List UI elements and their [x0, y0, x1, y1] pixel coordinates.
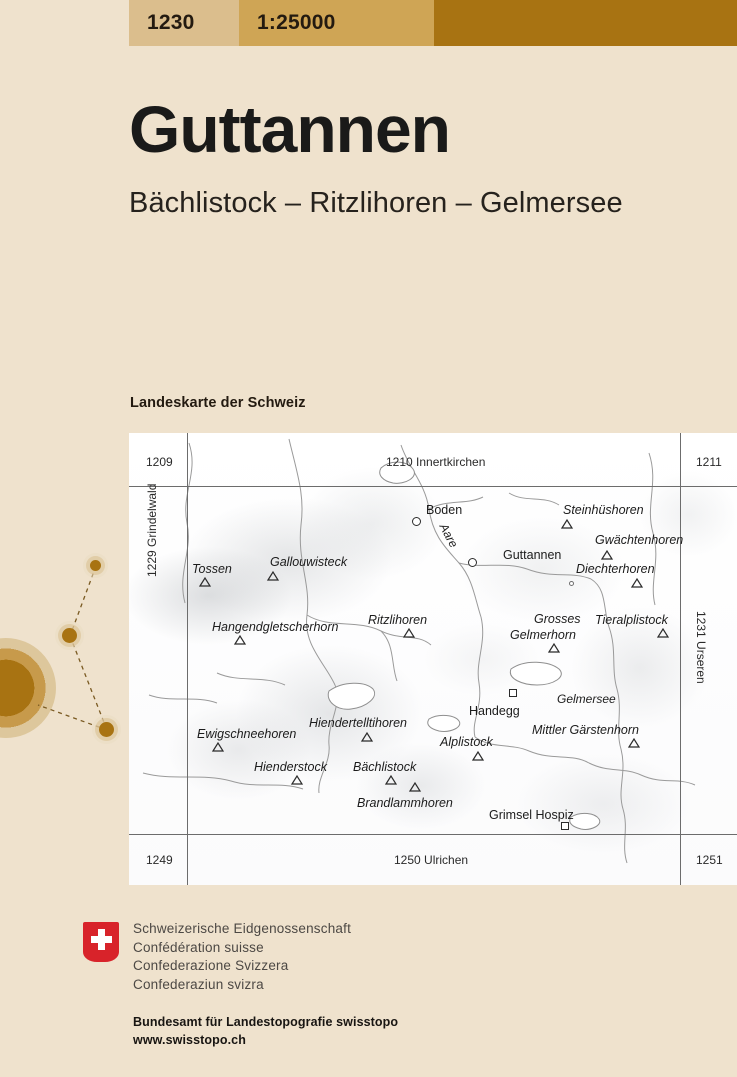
place-symbol-handegg: [509, 689, 517, 697]
scale-block: 1:25000: [239, 0, 434, 46]
sheet-number-block: 1230: [129, 0, 239, 46]
page-title: Guttannen: [129, 96, 623, 162]
office-website[interactable]: www.swisstopo.ch: [133, 1031, 398, 1049]
header-bar: 1230 1:25000: [0, 0, 737, 46]
place-symbol-grimsel-hospiz: [561, 822, 569, 830]
confederation-name-rm: Confederaziun svizra: [133, 976, 351, 995]
confederation-name-fr: Confédération suisse: [133, 939, 351, 958]
decorative-constellation: [0, 540, 130, 765]
header-accent-bar: [434, 0, 737, 46]
place-symbol-guttannen: [468, 558, 477, 567]
confederation-name-de: Schweizerische Eidgenossenschaft: [133, 920, 351, 939]
sheet-number: 1230: [129, 11, 195, 35]
constellation-dot-2: [62, 628, 77, 643]
header-left-spacer: [0, 0, 129, 46]
water-label-gelmersee: Gelmersee: [557, 692, 616, 706]
place-label-grimsel-hospiz: Grimsel Hospiz: [489, 808, 574, 822]
page-subtitle: Bächlistock – Ritzlihoren – Gelmersee: [129, 162, 623, 220]
map-cover-page: { "header": { "sheet_number": "1230", "s…: [0, 0, 737, 1077]
swiss-cross-icon: [83, 922, 119, 962]
peak-triangle-icons: [129, 433, 737, 885]
series-label: Landeskarte der Schweiz: [130, 395, 306, 411]
place-label-guttannen: Guttannen: [503, 548, 561, 562]
index-map-panel[interactable]: 1209 1210 Innertkirchen 1211 1229 Grinde…: [129, 433, 737, 885]
office-info: Bundesamt für Landestopografie swisstopo…: [133, 1013, 398, 1049]
constellation-dot-1: [90, 560, 101, 571]
confederation-names: Schweizerische Eidgenossenschaft Confédé…: [133, 920, 351, 994]
place-label-boden: Boden: [426, 503, 462, 517]
title-block: Guttannen Bächlistock – Ritzlihoren – Ge…: [129, 96, 623, 220]
confederation-name-it: Confederazione Svizzera: [133, 957, 351, 976]
office-name: Bundesamt für Landestopografie swisstopo: [133, 1013, 398, 1031]
place-symbol-boden: [412, 517, 421, 526]
constellation-dot-3: [99, 722, 114, 737]
scale-value: 1:25000: [239, 11, 335, 35]
place-label-handegg: Handegg: [469, 704, 520, 718]
spot-symbol-diechtersee: [569, 581, 574, 586]
